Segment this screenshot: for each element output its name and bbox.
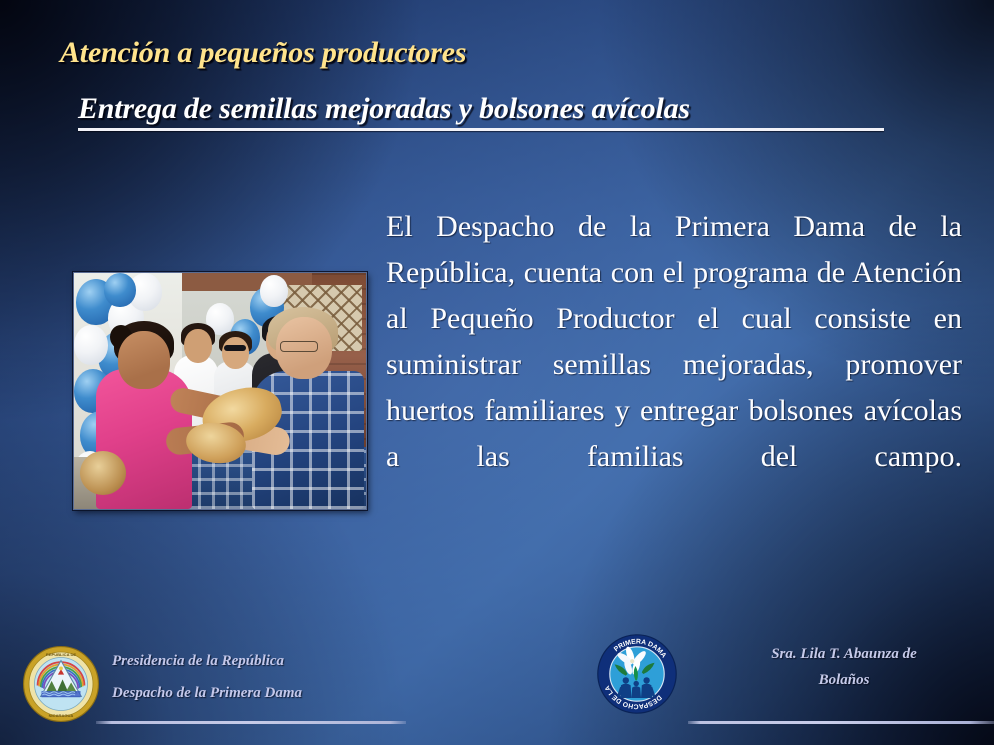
footer-right: Sra. Lila T. Abaunza de Bolaños [700,641,988,693]
photo-guest-head [222,337,249,369]
photo-guest-head [184,329,212,363]
footer-presidencia: Presidencia de la República [112,645,412,677]
footer-first-lady-name-line1: Sra. Lila T. Abaunza de [700,641,988,667]
footer-left: Presidencia de la República Despacho de … [112,645,412,709]
footer-left-rule [96,721,406,724]
footer-right-rule [688,721,994,724]
photo-first-lady-glasses [280,341,318,352]
photo-chicken [80,451,126,495]
photo-frame [73,272,367,510]
footer-first-lady-name-line2: Bolaños [700,667,988,693]
nicaragua-coat-of-arms-icon: REPUBLICA DE NICARAGUA [22,645,100,723]
slide-canvas: Atención a pequeños productores Entrega … [0,0,994,745]
svg-text:REPUBLICA DE: REPUBLICA DE [46,652,77,657]
page-title: Atención a pequeños productores [60,36,466,70]
photo-guest-sunglasses [224,345,246,351]
body-paragraph: El Despacho de la Primera Dama de la Rep… [386,204,962,526]
balloon-white [260,275,288,307]
balloon-blue [104,273,136,307]
balloon-white [74,325,108,365]
photo-image [74,273,366,509]
subtitle-underline [78,128,884,131]
despacho-primera-dama-logo-icon: DESPACHO DE LA PRIMERA DAMA [597,634,677,714]
page-subtitle: Entrega de semillas mejoradas y bolsones… [78,92,690,126]
footer-despacho: Despacho de la Primera Dama [112,677,412,709]
svg-text:NICARAGUA: NICARAGUA [49,713,74,718]
photo-woman-pink-head [118,331,170,389]
